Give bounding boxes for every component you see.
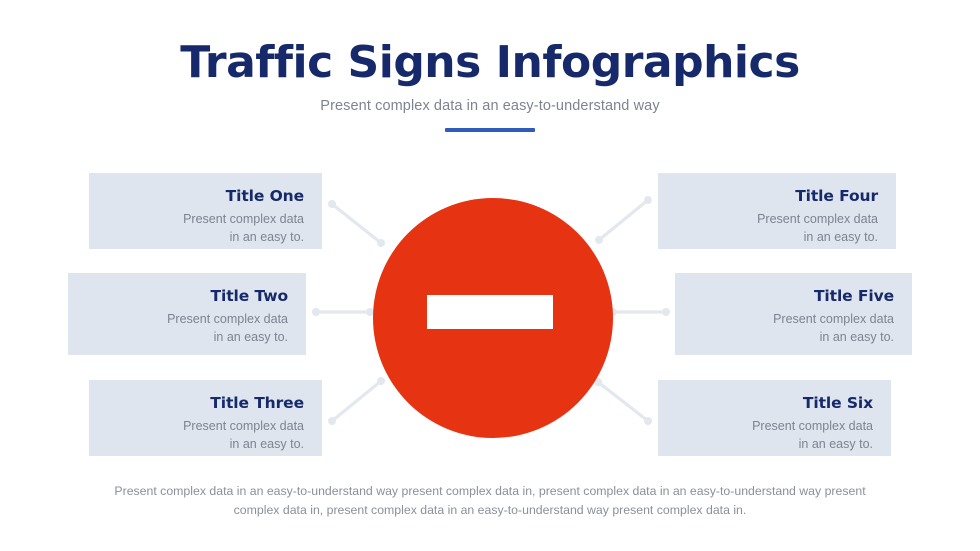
header: Traffic Signs Infographics Present compl… [0,0,980,132]
info-box-title-six[interactable]: Title Six Present complex data in an eas… [658,380,891,456]
infographic-slide: Traffic Signs Infographics Present compl… [0,0,980,551]
info-box-title-four[interactable]: Title Four Present complex data in an ea… [658,173,896,249]
info-box-title: Title Five [693,287,894,305]
info-box-title-one[interactable]: Title One Present complex data in an eas… [89,173,322,249]
info-box-description: Present complex data in an easy to. [676,417,873,453]
info-box-description: Present complex data in an easy to. [693,310,894,346]
no-entry-traffic-sign-icon [373,198,613,438]
info-box-title: Title Four [676,187,878,205]
info-box-description: Present complex data in an easy to. [86,310,288,346]
accent-bar-divider [445,128,535,132]
sign-horizontal-bar [427,295,553,329]
info-box-title: Title One [107,187,304,205]
page-title: Traffic Signs Infographics [0,40,980,86]
info-box-title: Title Six [676,394,873,412]
info-box-title-five[interactable]: Title Five Present complex data in an ea… [675,273,912,355]
info-box-description: Present complex data in an easy to. [676,210,878,246]
footer-caption: Present complex data in an easy-to-under… [90,482,890,520]
info-box-description: Present complex data in an easy to. [107,417,304,453]
info-box-title: Title Three [107,394,304,412]
info-box-title-three[interactable]: Title Three Present complex data in an e… [89,380,322,456]
info-box-title: Title Two [86,287,288,305]
info-box-title-two[interactable]: Title Two Present complex data in an eas… [68,273,306,355]
info-box-description: Present complex data in an easy to. [107,210,304,246]
page-subtitle: Present complex data in an easy-to-under… [0,98,980,114]
